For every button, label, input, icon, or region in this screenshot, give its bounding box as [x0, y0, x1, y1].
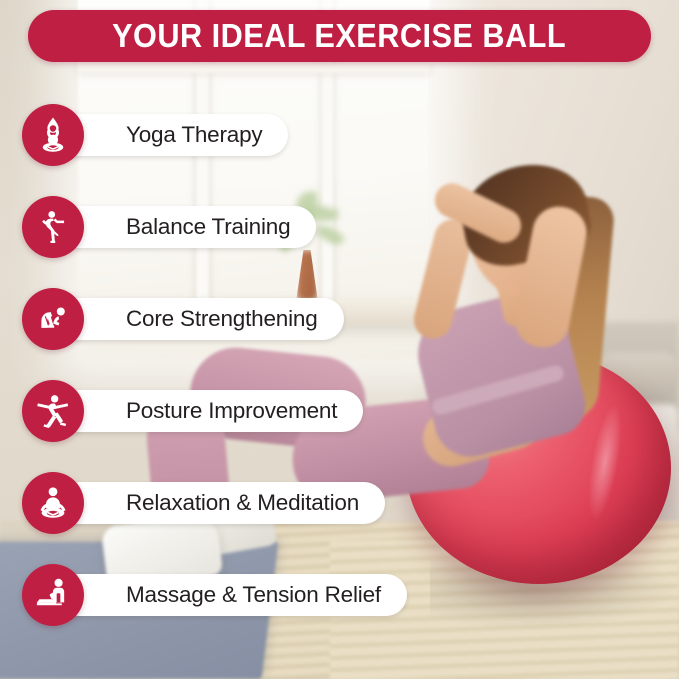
- feature-label: Yoga Therapy: [126, 122, 262, 148]
- feature-label: Balance Training: [126, 214, 290, 240]
- feature-pill: Massage & Tension Relief: [58, 574, 407, 616]
- feature-label: Massage & Tension Relief: [126, 582, 381, 608]
- feature-label: Posture Improvement: [126, 398, 337, 424]
- product-infographic: YOUR IDEAL EXERCISE BALL Yoga Therapy: [0, 0, 679, 679]
- feature-icon-badge: [22, 472, 84, 534]
- feature-icon-badge: [22, 380, 84, 442]
- feature-label: Core Strengthening: [126, 306, 318, 332]
- massage-therapy-icon: [32, 574, 74, 616]
- feature-pill: Balance Training: [58, 206, 316, 248]
- feature-icon-badge: [22, 564, 84, 626]
- feature-label: Relaxation & Meditation: [126, 490, 359, 516]
- feature-pill: Posture Improvement: [58, 390, 363, 432]
- feature-icon-badge: [22, 196, 84, 258]
- feature-icon-badge: [22, 104, 84, 166]
- feature-pill: Yoga Therapy: [58, 114, 288, 156]
- feature-list: Yoga Therapy Balance Training: [0, 0, 679, 679]
- core-crunch-situp-icon: [33, 299, 73, 339]
- yoga-lotus-raised-arms-icon: [33, 115, 73, 155]
- meditation-seated-icon: [33, 483, 73, 523]
- feature-pill: Core Strengthening: [58, 298, 344, 340]
- posture-warrior-pose-icon: [32, 390, 74, 432]
- feature-pill: Relaxation & Meditation: [58, 482, 385, 524]
- balance-tree-pose-icon: [33, 207, 73, 247]
- feature-icon-badge: [22, 288, 84, 350]
